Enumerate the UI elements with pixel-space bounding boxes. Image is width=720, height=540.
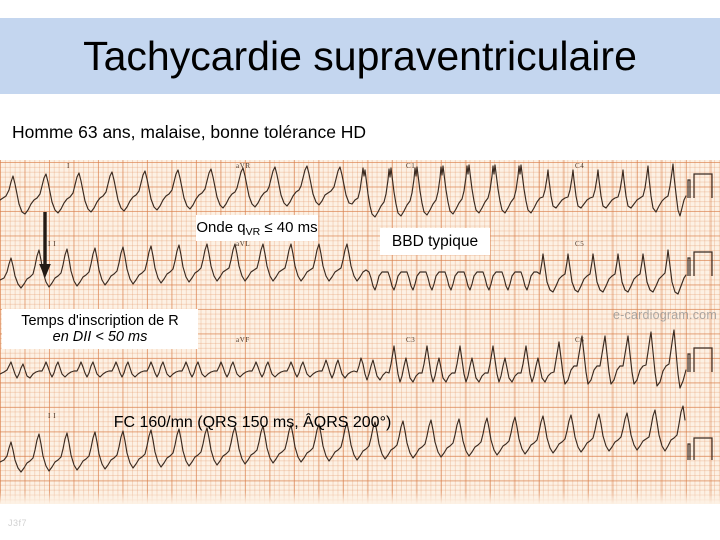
- callout-r-inscription-time: Temps d'inscription de R en DII < 50 ms: [2, 309, 198, 349]
- page-title: Tachycardie supraventriculaire: [0, 18, 720, 94]
- lead-label-C3: C3: [406, 336, 415, 344]
- callout-q-suffix: ≤ 40 ms: [260, 219, 317, 236]
- down-arrow-icon: [36, 210, 56, 280]
- ecg-row-1: I aVR C1 C4: [0, 162, 712, 217]
- lead-label-I: I: [67, 162, 70, 170]
- lead-label-aVR: aVR: [236, 162, 251, 170]
- callout-q-prefix: Onde q: [196, 219, 245, 236]
- watermark-text: e-cardiogram.com: [613, 308, 717, 322]
- lead-label-C5: C5: [575, 240, 584, 248]
- patient-summary-text: Homme 63 ans, malaise, bonne tolérance H…: [12, 122, 366, 143]
- lead-label-C1: C1: [406, 162, 415, 170]
- callout-measurements: FC 160/mn (QRS 150 ms, ÂQRS 200°): [100, 411, 405, 435]
- callout-r-line2: en DII < 50 ms: [53, 329, 148, 345]
- slide-footer: J3f7: [8, 518, 27, 528]
- lead-label-aVF: aVF: [236, 336, 250, 344]
- callout-bbd: BBD typique: [380, 228, 490, 255]
- ecg-row-2: I I aVL C5: [0, 240, 712, 294]
- lead-label-rhythm-II: I I: [48, 412, 56, 420]
- callout-r-line1: Temps d'inscription de R: [21, 313, 179, 329]
- callout-q-subscript: VR: [246, 226, 261, 238]
- lead-label-C6: C6: [575, 336, 584, 344]
- lead-label-C4: C4: [575, 162, 584, 170]
- callout-q-wave-text: Onde qVR ≤ 40 ms: [196, 220, 317, 237]
- lead-label-aVL: aVL: [236, 240, 250, 248]
- callout-q-wave: Onde qVR ≤ 40 ms: [196, 215, 318, 241]
- slide-canvas: Tachycardie supraventriculaire Homme 63 …: [0, 0, 720, 540]
